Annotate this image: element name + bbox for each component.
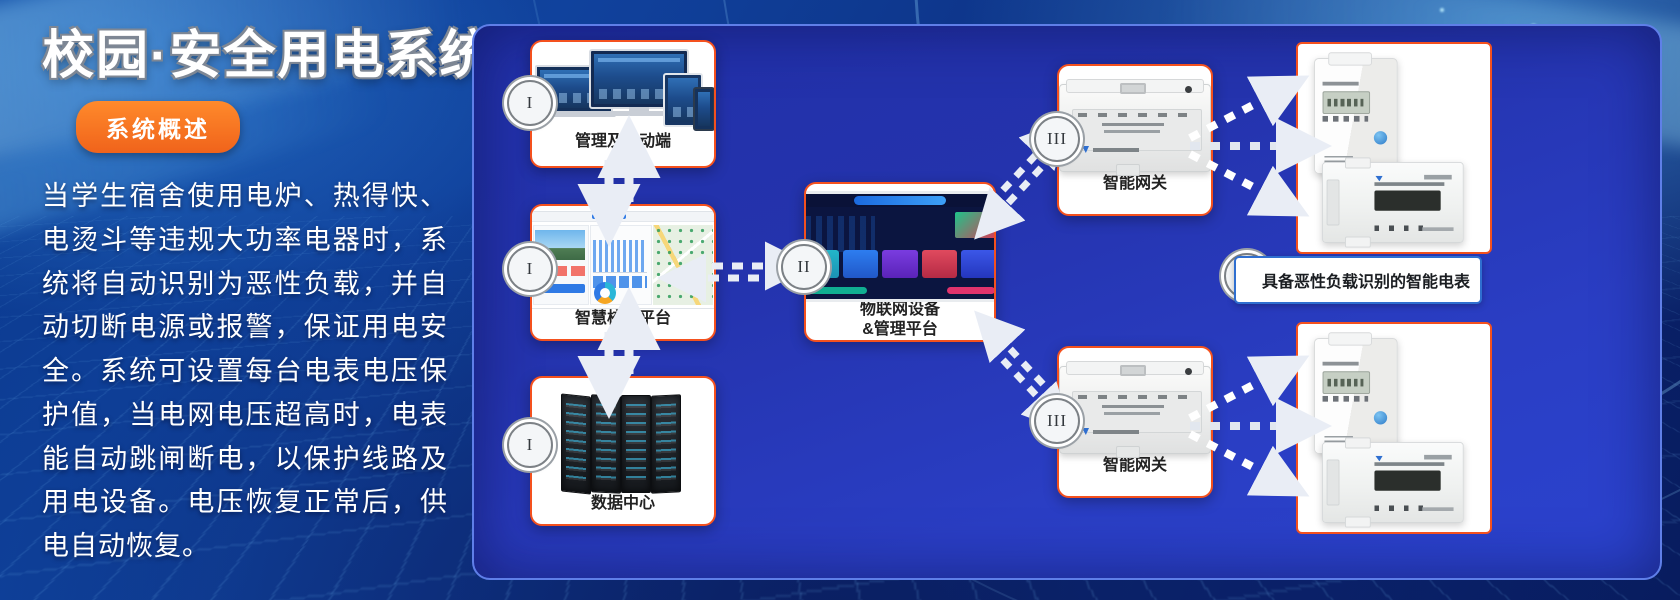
node-iot-platform-label-line2: &管理平台	[858, 320, 942, 340]
page-title: 校园·安全用电系统	[42, 28, 458, 85]
devices-icon	[535, 48, 711, 132]
gateway-device-icon	[1059, 82, 1211, 174]
node-smart-campus[interactable]: 智慧校园平台	[530, 204, 716, 341]
poster-canvas: 校园·安全用电系统 系统概述 当学生宿舍使用电炉、热得快、电烫斗等违规大功率电器…	[0, 0, 1680, 600]
node-admin-mobile[interactable]: 管理及移动端	[530, 40, 716, 168]
electric-meter-icon	[1322, 162, 1464, 243]
iot-dashboard-icon	[804, 192, 996, 300]
phone-icon	[693, 87, 715, 131]
node-iot-platform-label-line1: 物联网设备	[856, 300, 944, 320]
badge-admin-mobile: I	[507, 80, 553, 126]
node-smart-campus-label: 智慧校园平台	[571, 309, 675, 329]
glow-dot-c	[1440, 8, 1444, 12]
node-gateway-top[interactable]: 智能网关	[1057, 64, 1213, 216]
smart-meters-caption-text: 具备恶性负载识别的智能电表	[1262, 268, 1470, 292]
connector-iot-to-gateway-bottom	[990, 336, 1056, 408]
badge-smart-campus: I	[507, 246, 553, 292]
badge-data-center: I	[507, 422, 553, 468]
architecture-diagram-panel: 管理及移动端 I 智慧校园平台 I	[472, 24, 1662, 580]
smart-meters-panel-top[interactable]	[1296, 42, 1492, 254]
gateway-device-icon	[1059, 364, 1211, 456]
badge-gateway-bottom: III	[1034, 398, 1080, 444]
intro-column: 校园·安全用电系统 系统概述 当学生宿舍使用电炉、热得快、电烫斗等违规大功率电器…	[28, 10, 458, 569]
node-gateway-bottom[interactable]: 智能网关	[1057, 346, 1213, 498]
section-pill-system-overview: 系统概述	[76, 101, 240, 153]
node-gateway-top-label: 智能网关	[1099, 174, 1171, 194]
badge-iot-platform: II	[781, 244, 827, 290]
electric-meter-icon	[1322, 442, 1464, 523]
node-admin-mobile-label: 管理及移动端	[571, 132, 675, 152]
node-data-center-label: 数据中心	[587, 494, 659, 514]
node-gateway-bottom-label: 智能网关	[1099, 456, 1171, 476]
node-data-center[interactable]: 数据中心	[530, 376, 716, 526]
server-rack-icon	[559, 388, 687, 494]
smart-meters-panel-bottom[interactable]	[1296, 322, 1492, 534]
smart-meters-caption-bar[interactable]: 具备恶性负载识别的智能电表	[1234, 256, 1482, 304]
node-iot-platform[interactable]: 物联网设备 &管理平台	[804, 182, 996, 342]
system-overview-paragraph: 当学生宿舍使用电炉、热得快、电烫斗等违规大功率电器时，系统将自动识别为恶性负载，…	[42, 175, 448, 569]
dashboard-map-icon	[530, 211, 716, 309]
badge-gateway-top: III	[1034, 116, 1080, 162]
